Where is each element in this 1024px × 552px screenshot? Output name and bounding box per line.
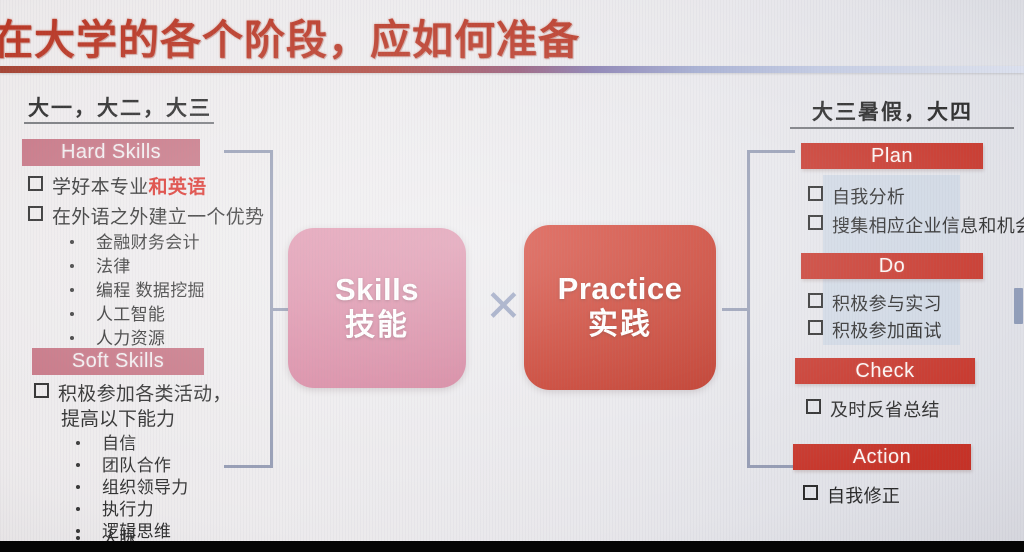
bullet-icon [70,240,74,244]
action-item-1-label: 自我修正 [827,486,900,506]
check-banner: Check [795,358,975,384]
plan-item-2-label: 搜集相应企业信息和机会 [832,216,1024,236]
slide-canvas: 在大学的各个阶段，应如何准备 大一，大二，大三 Hard Skills 学好本专… [0,0,1024,552]
bullet-icon [76,441,80,445]
bullet-icon [76,536,80,540]
soft-skills-banner: Soft Skills [32,348,204,375]
do-item-2-label: 积极参加面试 [832,321,942,341]
skills-box-zh-label: 技能 [345,308,409,343]
plan-item-2: 搜集相应企业信息和机会 [808,212,1024,238]
practice-box-zh-label: 实践 [588,307,652,342]
check-item-1: 及时反省总结 [806,396,940,422]
bullet-icon [70,288,74,292]
do-item-1: 积极参与实习 [808,290,942,316]
multiply-icon: ✕ [485,285,522,329]
soft-skills-item-1-line1: 积极参加各类活动， [58,384,232,405]
hard-skills-sub-4: 人工智能 [70,300,165,325]
checkbox-icon [34,383,49,398]
hard-skills-sub-1: 金融财务会计 [70,228,200,253]
do-item-2: 积极参加面试 [808,317,942,343]
vertical-scrollbar-thumb[interactable] [1014,288,1023,324]
bullet-icon [76,485,80,489]
hard-skills-sub-1-label: 金融财务会计 [96,233,200,252]
left-column-header: 大一，大二，大三 [28,92,212,122]
bullet-icon [76,507,80,511]
do-item-1-label: 积极参与实习 [832,294,942,314]
plan-banner: Plan [801,143,983,169]
hard-skills-item-1-highlight: 和英语 [149,177,207,198]
checkbox-icon [803,485,818,500]
right-column-header: 大三暑假，大四 [812,96,973,126]
title-divider-rule [0,66,1024,73]
check-item-1-label: 及时反省总结 [830,400,940,420]
hard-skills-sub-2: 法律 [70,252,131,277]
soft-skills-item-1: 积极参加各类活动， [34,379,232,406]
bullet-icon [70,336,74,340]
plan-item-1: 自我分析 [808,183,905,209]
hard-skills-banner: Hard Skills [22,139,200,166]
right-bracket-bottom-arm [747,465,795,468]
checkbox-icon [808,186,823,201]
practice-box-en-label: Practice [558,272,683,307]
skills-box[interactable]: Skills 技能 [288,228,466,388]
checkbox-icon [28,206,43,221]
checkbox-icon [28,176,43,191]
checkbox-icon [808,320,823,335]
checkbox-icon [808,293,823,308]
hard-skills-sub-3: 编程 数据挖掘 [70,276,205,301]
hard-skills-sub-4-label: 人工智能 [96,305,165,324]
hard-skills-sub-3-label: 编程 数据挖掘 [96,281,205,300]
practice-box[interactable]: Practice 实践 [524,225,716,390]
right-column-rule [790,127,1014,129]
hard-skills-item-2: 在外语之外建立一个优势 [28,202,264,229]
action-item-1: 自我修正 [803,482,900,508]
soft-skills-item-1-line2: 提高以下能力 [61,404,175,431]
plan-item-1-label: 自我分析 [832,187,905,207]
hard-skills-item-2-text: 在外语之外建立一个优势 [52,207,264,228]
hard-skills-sub-2-label: 法律 [96,257,131,276]
hard-skills-item-1-text: 学好本专业 [52,177,149,198]
action-banner: Action [793,444,971,470]
skills-box-en-label: Skills [335,273,419,308]
bullet-icon [76,463,80,467]
slide-title: 在大学的各个阶段，应如何准备 [0,6,752,66]
bullet-icon [70,312,74,316]
left-bracket-top-arm [224,150,272,153]
bullet-icon [70,264,74,268]
checkbox-icon [808,215,823,230]
hard-skills-item-1: 学好本专业和英语 [28,172,206,199]
left-bracket-bottom-arm [224,465,272,468]
right-bracket-top-arm [747,150,795,153]
screen-bottom-bezel [0,541,1024,552]
do-banner: Do [801,253,983,279]
checkbox-icon [806,399,821,414]
left-column-rule [24,122,214,124]
right-bracket-tip [722,308,750,311]
